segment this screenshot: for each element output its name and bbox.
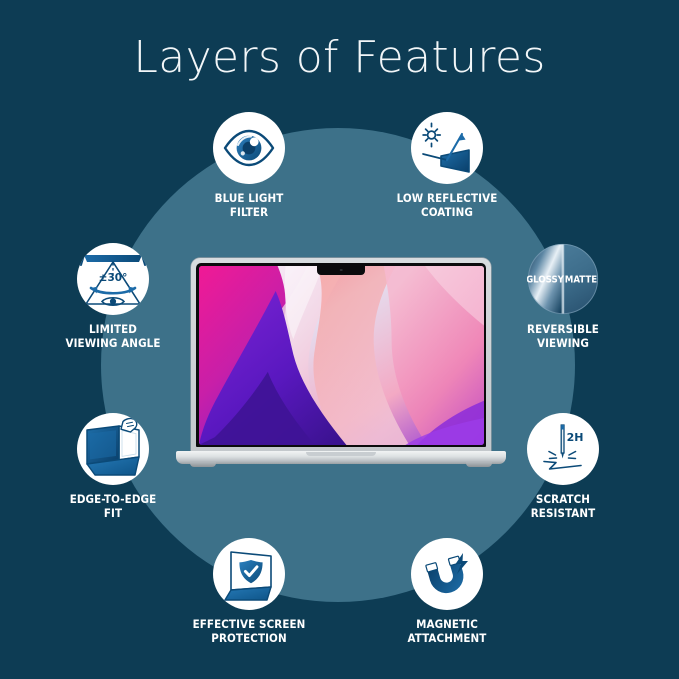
infographic-canvas: Layers of Features — [0, 0, 679, 679]
scratch-line-icon — [544, 462, 581, 470]
badge-circle — [213, 112, 285, 184]
laptop-lid — [191, 258, 491, 454]
glossy-matte-disc-icon: GLOSSY MATTE — [527, 243, 599, 315]
page-title: Layers of Features — [0, 34, 679, 82]
sun-reflection-screen-icon — [411, 112, 483, 184]
feature-blue-light-filter[interactable]: BLUE LIGHT FILTER — [174, 112, 324, 219]
lid-open-notch — [306, 452, 376, 457]
badge-circle: ±30° — [77, 243, 149, 315]
badge-circle — [213, 538, 285, 610]
laptop-shield-check-icon — [213, 538, 285, 610]
feature-label: BLUE LIGHT FILTER — [174, 191, 324, 219]
laptop-device — [176, 258, 506, 470]
badge-circle — [411, 112, 483, 184]
feature-effective-screen-protection[interactable]: EFFECTIVE SCREEN PROTECTION — [174, 538, 324, 645]
feature-label: LOW REFLECTIVE COATING — [372, 191, 522, 219]
eye-icon — [102, 298, 124, 306]
feature-scratch-resistant[interactable]: 2H SCRATCH RESISTANT — [488, 413, 638, 520]
feature-magnetic-attachment[interactable]: MAGNETIC ATTACHMENT — [372, 538, 522, 645]
sun-icon — [423, 123, 440, 146]
feature-edge-to-edge-fit[interactable]: EDGE-TO-EDGE FIT — [38, 413, 188, 520]
eye-icon — [213, 112, 285, 184]
feature-label: SCRATCH RESISTANT — [488, 492, 638, 520]
badge-circle: GLOSSY MATTE — [527, 243, 599, 315]
laptop-base — [176, 451, 506, 464]
webcam-notch — [317, 266, 365, 275]
feature-label: LIMITED VIEWING ANGLE — [38, 322, 188, 350]
matte-label: MATTE — [565, 274, 598, 285]
laptop-bezel — [196, 263, 486, 447]
feature-label: EFFECTIVE SCREEN PROTECTION — [174, 617, 324, 645]
laptop-screen — [199, 266, 484, 445]
pencil-scratch-icon: 2H — [527, 413, 599, 485]
hardness-value: 2H — [567, 431, 584, 444]
feature-label: EDGE-TO-EDGE FIT — [38, 492, 188, 520]
laptop-film-hand-icon — [77, 413, 149, 485]
badge-circle — [411, 538, 483, 610]
webcam-icon — [340, 269, 343, 272]
magnet-bolt-icon — [411, 538, 483, 610]
viewing-angle-value: ±30° — [99, 272, 128, 284]
feature-limited-viewing-angle[interactable]: ±30° LIMITED VIEWING ANGLE — [38, 243, 188, 350]
badge-circle — [77, 413, 149, 485]
hand-icon — [121, 418, 137, 432]
viewing-angle-cone-icon: ±30° — [77, 243, 149, 315]
laptop-foot-left — [190, 462, 216, 467]
glossy-label: GLOSSY — [527, 274, 565, 285]
badge-circle: 2H — [527, 413, 599, 485]
feature-low-reflective-coating[interactable]: LOW REFLECTIVE COATING — [372, 112, 522, 219]
feature-reversible-viewing[interactable]: GLOSSY MATTE REVERSIBLE VIEWING — [488, 243, 638, 350]
feature-label: REVERSIBLE VIEWING — [488, 322, 638, 350]
feature-label: MAGNETIC ATTACHMENT — [372, 617, 522, 645]
